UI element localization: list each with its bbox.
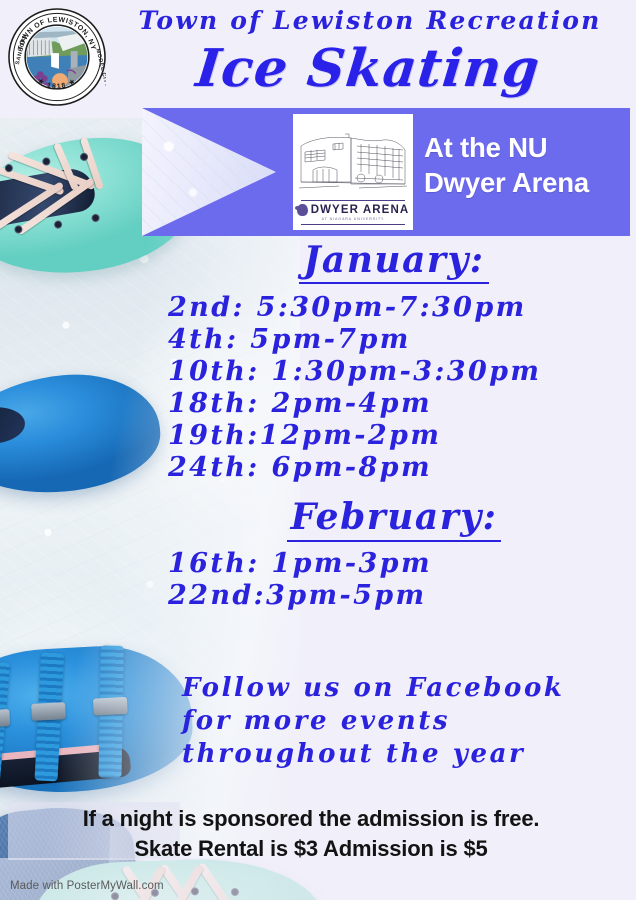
dwyer-arena-wordmark: DWYER ARENA	[293, 204, 413, 216]
pricing-note-line1: If a night is sponsored the admission is…	[0, 804, 622, 834]
page-title: Ice Skating	[0, 38, 636, 99]
schedule-row: 19th:12pm-2pm	[168, 420, 620, 452]
january-date-list: 2nd: 5:30pm-7:30pm 4th: 5pm-7pm 10th: 1:…	[168, 292, 620, 483]
month-heading-february: February:	[168, 497, 620, 541]
postermywall-watermark: Made with PosterMyWall.com	[10, 880, 164, 892]
dwyer-arena-building-sketch	[299, 126, 407, 198]
schedule-row: 10th: 1:30pm-3:30pm	[168, 356, 620, 388]
ice-skating-poster: TOWN OF LEWISTON, NY ★ 1818 ★ SANBORN MO…	[0, 0, 636, 900]
month-label: January:	[299, 240, 488, 284]
schedule-row: 16th: 1pm-3pm	[168, 548, 620, 580]
schedule-row: 24th: 6pm-8pm	[168, 452, 620, 484]
schedule-row: 4th: 5pm-7pm	[168, 324, 620, 356]
organization-name: Town of Lewiston Recreation	[0, 6, 636, 35]
dwyer-arena-name: DWYER ARENA	[311, 204, 410, 216]
dwyer-eagle-mascot-icon	[297, 204, 308, 216]
dwyer-logo-baseline	[301, 224, 405, 226]
follow-us-message: Follow us on Facebook for more events th…	[182, 672, 612, 771]
skating-schedule: January: 2nd: 5:30pm-7:30pm 4th: 5pm-7pm…	[168, 240, 620, 612]
february-date-list: 16th: 1pm-3pm 22nd:3pm-5pm	[168, 548, 620, 612]
dwyer-arena-logo: DWYER ARENA AT NIAGARA UNIVERSITY	[293, 114, 413, 230]
watermark-strip	[0, 858, 636, 900]
dwyer-logo-divider	[301, 200, 405, 201]
month-heading-january: January:	[168, 240, 620, 284]
pricing-note: If a night is sponsored the admission is…	[0, 804, 636, 863]
month-label: February:	[287, 497, 502, 541]
schedule-row: 2nd: 5:30pm-7:30pm	[168, 292, 620, 324]
schedule-row: 18th: 2pm-4pm	[168, 388, 620, 420]
schedule-row: 22nd:3pm-5pm	[168, 580, 620, 612]
dwyer-arena-subtitle: AT NIAGARA UNIVERSITY	[293, 217, 413, 221]
